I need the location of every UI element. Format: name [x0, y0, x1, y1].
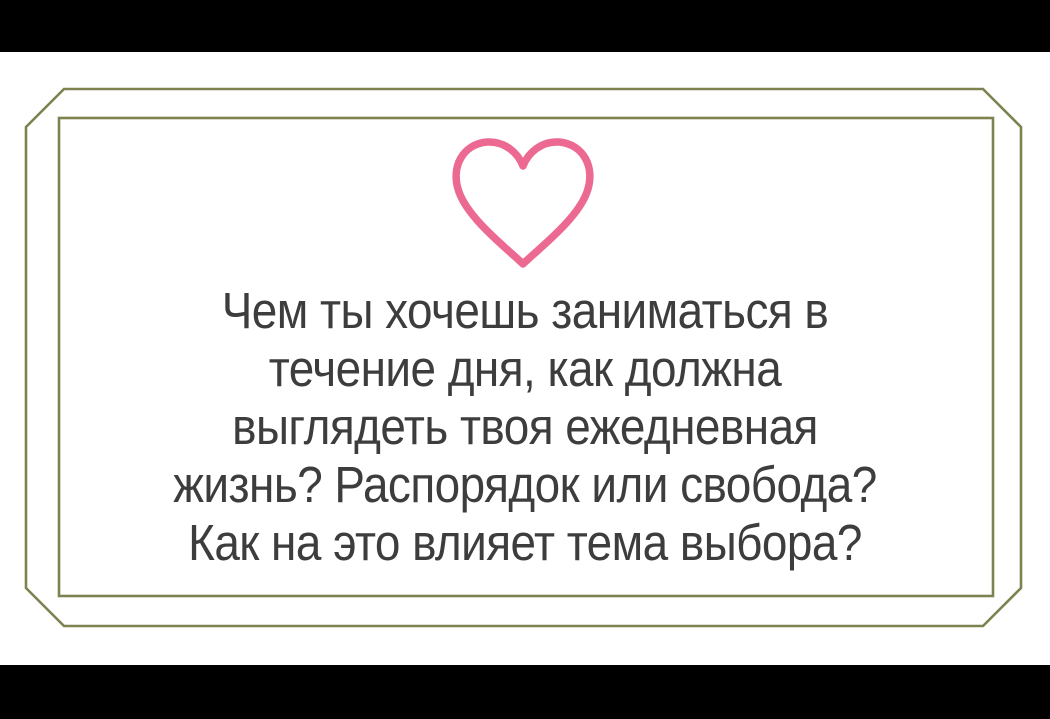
- quote-line-4: жизнь? Распорядок или свобода?: [80, 456, 971, 514]
- heart-icon: [449, 136, 597, 270]
- quote-line-5: Как на это влияет тема выбора?: [80, 514, 971, 572]
- letterbox-top-bar: [0, 0, 1050, 52]
- letterbox-bottom-bar: [0, 665, 1050, 719]
- quote-card-screenshot: Чем ты хочешь заниматься в течение дня, …: [0, 0, 1050, 719]
- quote-line-1: Чем ты хочешь заниматься в: [80, 282, 971, 340]
- quote-text: Чем ты хочешь заниматься в течение дня, …: [80, 282, 971, 572]
- quote-line-3: выглядеть твоя ежедневная: [80, 398, 971, 456]
- heart-icon-path: [456, 142, 590, 264]
- quote-line-2: течение дня, как должна: [80, 340, 971, 398]
